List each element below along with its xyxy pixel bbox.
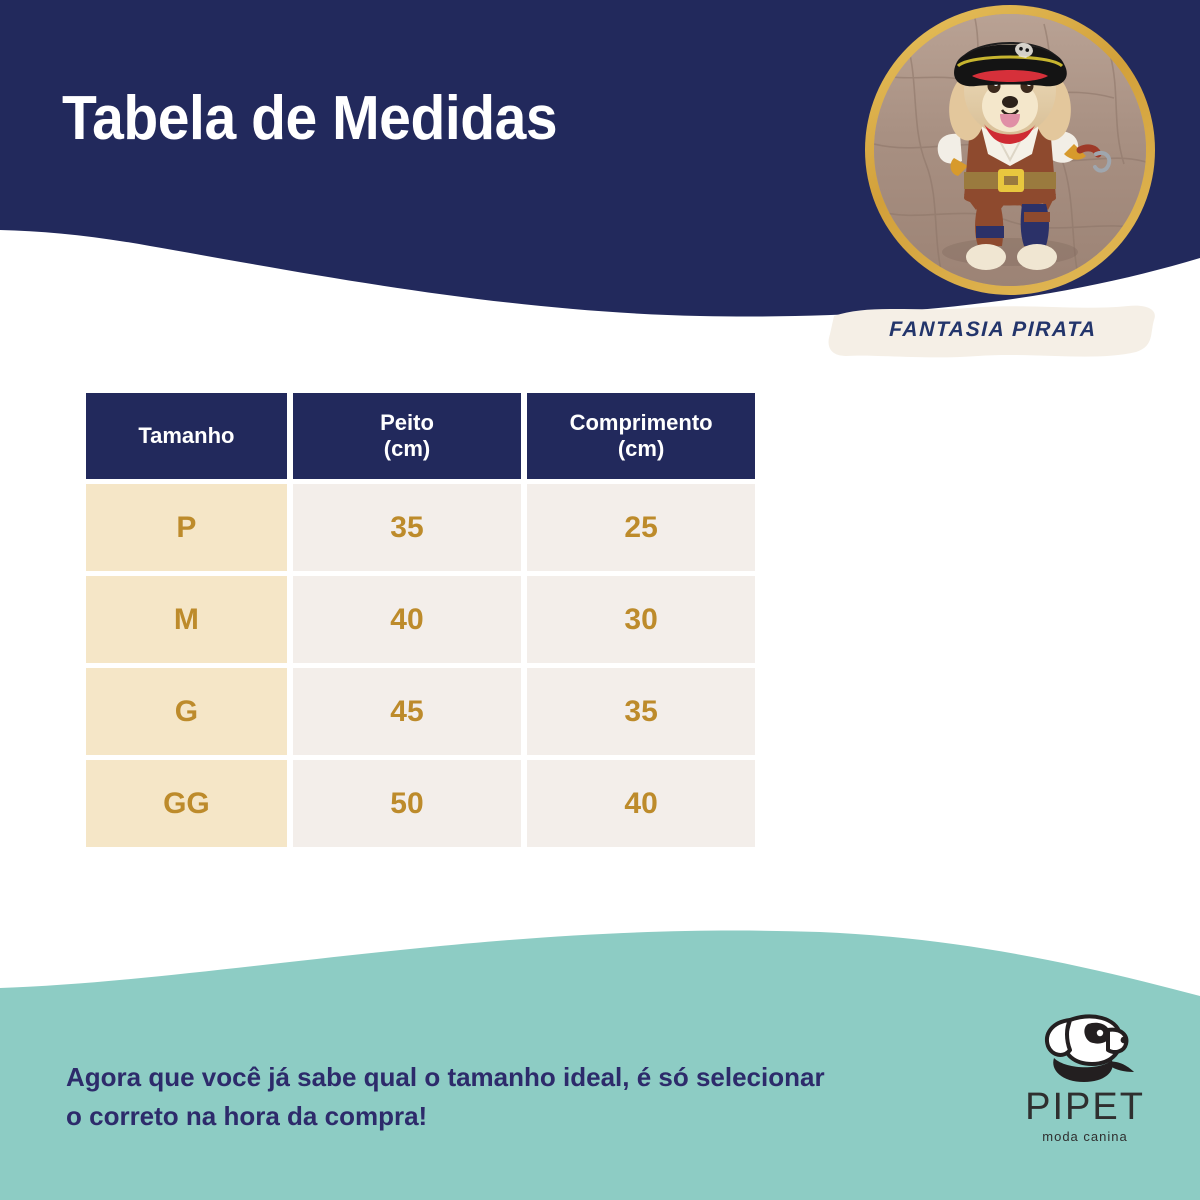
cell-length: 40 xyxy=(527,760,755,847)
cell-length: 25 xyxy=(527,484,755,571)
table-row: P 35 25 xyxy=(86,484,755,571)
header-size-line1: Tamanho xyxy=(86,423,287,449)
table-header-size: Tamanho xyxy=(86,393,287,479)
page-title: Tabela de Medidas xyxy=(62,88,557,150)
cell-length: 35 xyxy=(527,668,755,755)
footer-message-line2: o correto na hora da compra! xyxy=(66,1097,936,1136)
cell-length: 30 xyxy=(527,576,755,663)
brand-logo: PIPET moda canina xyxy=(1010,1008,1160,1144)
cell-size: M xyxy=(86,576,287,663)
table-row: G 45 35 xyxy=(86,668,755,755)
cell-size: GG xyxy=(86,760,287,847)
footer-message-line1: Agora que você já sabe qual o tamanho id… xyxy=(66,1058,936,1097)
dog-in-pirate-costume-photo xyxy=(874,14,1146,286)
cell-chest: 45 xyxy=(293,668,521,755)
product-label-text: FANTASIA PIRATA xyxy=(828,318,1159,342)
cell-chest: 35 xyxy=(293,484,521,571)
table-header-chest: Peito (cm) xyxy=(293,393,521,479)
cell-size: G xyxy=(86,668,287,755)
cell-chest: 50 xyxy=(293,760,521,847)
footer-message: Agora que você já sabe qual o tamanho id… xyxy=(66,1058,936,1136)
size-chart-table: Tamanho Peito (cm) Comprimento (cm) P 35… xyxy=(80,388,761,852)
header-chest-line1: Peito xyxy=(293,410,521,436)
header-length-line2: (cm) xyxy=(527,436,755,462)
cell-chest: 40 xyxy=(293,576,521,663)
cell-size: P xyxy=(86,484,287,571)
header-chest-line2: (cm) xyxy=(293,436,521,462)
pipet-dog-icon xyxy=(1030,1008,1140,1086)
table-header-length: Comprimento (cm) xyxy=(527,393,755,479)
table-header-row: Tamanho Peito (cm) Comprimento (cm) xyxy=(86,393,755,479)
table-row: M 40 30 xyxy=(86,576,755,663)
product-label: FANTASIA PIRATA xyxy=(828,300,1158,362)
table-row: GG 50 40 xyxy=(86,760,755,847)
product-photo xyxy=(865,5,1155,295)
header-length-line1: Comprimento xyxy=(527,410,755,436)
photo-image-clip xyxy=(874,14,1146,286)
brand-name: PIPET xyxy=(1010,1088,1160,1126)
brand-tagline: moda canina xyxy=(1010,1129,1160,1144)
